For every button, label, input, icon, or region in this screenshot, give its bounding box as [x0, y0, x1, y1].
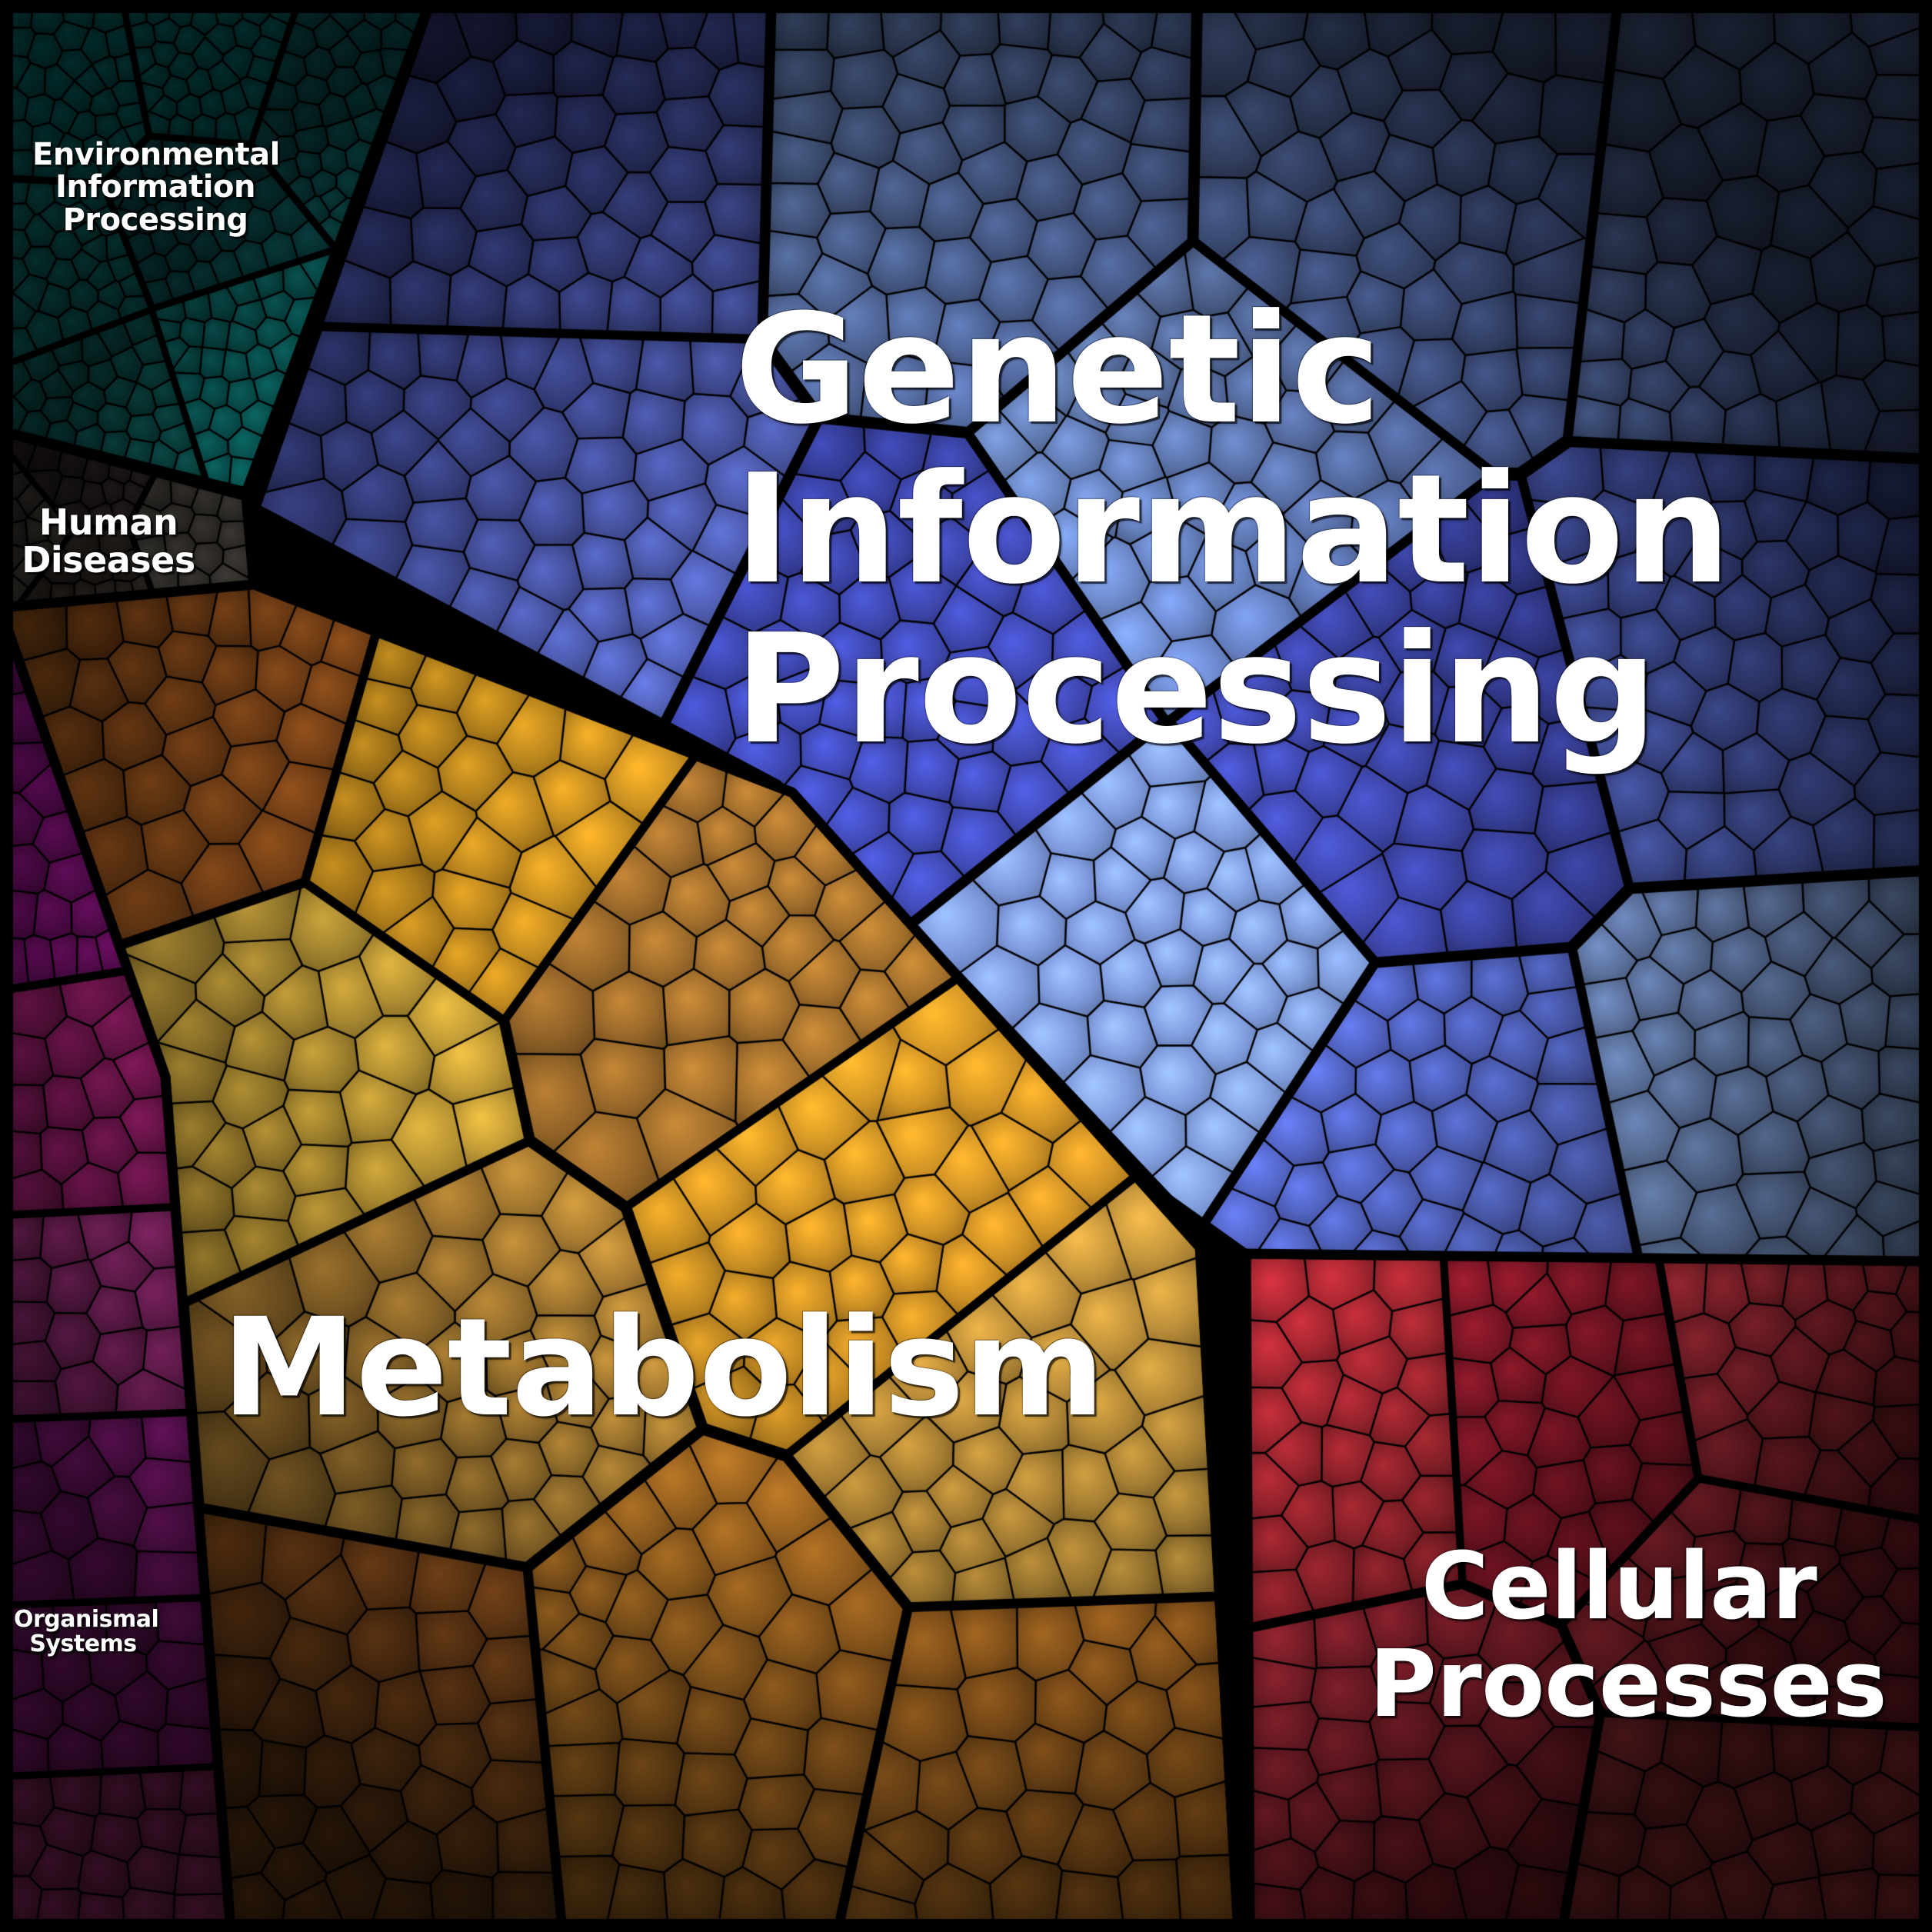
voronoi-tessellation-canvas: [0, 0, 1932, 1932]
voronoi-treemap-figure: Genetic Information Processing Metabolis…: [0, 0, 1932, 1932]
